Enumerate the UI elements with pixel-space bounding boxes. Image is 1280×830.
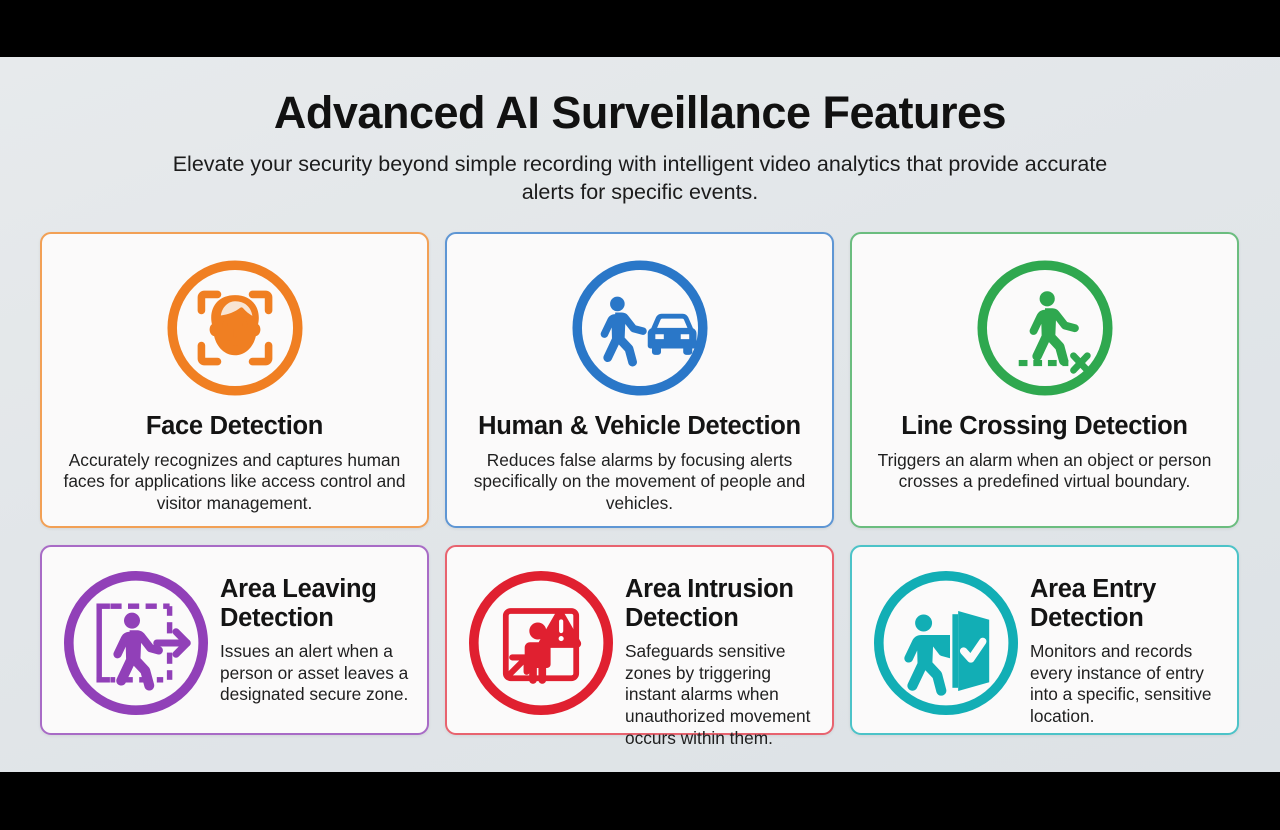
card-description: Accurately recognizes and captures human… [56,450,413,515]
card-description: Reduces false alarms by focusing alerts … [461,450,818,515]
card-description: Safeguards sensitive zones by triggering… [625,641,816,749]
person-exiting-zone-icon [52,559,220,727]
slide-content: Advanced AI Surveillance Features Elevat… [0,57,1280,772]
page-subtitle: Elevate your security beyond simple reco… [170,150,1110,207]
slide-stage: Advanced AI Surveillance Features Elevat… [0,0,1280,830]
feature-card-face-detection[interactable]: Face Detection Accurately recognizes and… [40,232,429,528]
person-intruding-zone-warning-icon [457,559,625,727]
feature-card-grid: Face Detection Accurately recognizes and… [40,232,1240,735]
person-and-car-icon [564,252,716,404]
letterbox-bar-bottom [0,772,1280,830]
feature-card-human-vehicle-detection[interactable]: Human & Vehicle Detection Reduces false … [445,232,834,528]
card-title: Human & Vehicle Detection [478,412,801,441]
card-title: Line Crossing Detection [901,412,1187,441]
card-title: Area Intrusion Detection [625,575,816,632]
feature-card-line-crossing-detection[interactable]: Line Crossing Detection Triggers an alar… [850,232,1239,528]
face-scan-icon [159,252,311,404]
card-title: Area Leaving Detection [220,575,411,632]
card-title: Face Detection [146,412,323,441]
feature-card-area-leaving-detection[interactable]: Area Leaving Detection Issues an alert w… [40,545,429,735]
card-title: Area Entry Detection [1030,575,1221,632]
slide-header: Advanced AI Surveillance Features Elevat… [0,57,1280,207]
card-description: Issues an alert when a person or asset l… [220,641,411,706]
card-description: Triggers an alarm when an object or pers… [866,450,1223,493]
feature-card-area-intrusion-detection[interactable]: Area Intrusion Detection Safeguards sens… [445,545,834,735]
page-title: Advanced AI Surveillance Features [0,89,1280,138]
letterbox-bar-top [0,0,1280,57]
person-crossing-line-icon [969,252,1121,404]
card-description: Monitors and records every instance of e… [1030,641,1221,727]
person-entering-door-check-icon [862,559,1030,727]
feature-card-area-entry-detection[interactable]: Area Entry Detection Monitors and record… [850,545,1239,735]
